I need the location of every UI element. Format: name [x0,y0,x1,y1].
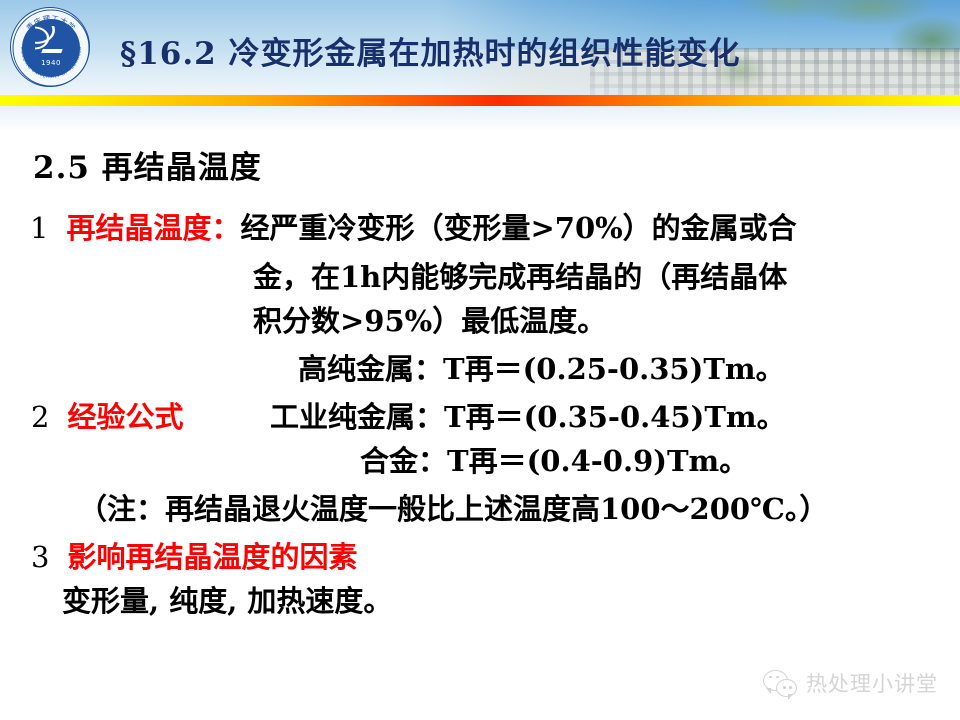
wechat-icon [763,670,797,697]
seal-inner-disc: 1940 [22,19,80,77]
item-1-body-line-3: 积分数>95%）最低温度。 [253,298,606,340]
item-2-term: 经验公式 [67,400,183,434]
header-accent-gradient-bar [0,95,960,106]
slide-header-banner: 重庆理工大学 CHONGQING UNIVERSITY OF TECHNOLOG… [0,0,960,95]
item-1-number: 1 [30,211,48,245]
list-item-2: 2经验公式 [31,394,183,436]
item-3-body-line-1: 变形量, 纯度, 加热速度。 [62,578,392,620]
slide-banner-title: §16.2 冷变形金属在加热时的组织性能变化 [120,28,741,73]
slide-content: 2.5 再结晶温度 1再结晶温度：经严重冷变形（变形量>70%）的金属或合 金，… [0,106,960,720]
formula-industrial-pure-metal: 工业纯金属：T再＝(0.35-0.45)Tm。 [270,394,786,436]
seal-swoosh-mark [35,26,67,62]
item-1-body-line-1: 经严重冷变形（变形量>70%）的金属或合 [240,211,796,245]
recrystallization-note: （注：再结晶退火温度一般比上述温度高100～200℃。） [78,486,828,528]
wechat-dot [769,676,772,679]
wechat-watermark: 热处理小讲堂 [763,668,938,698]
formula-alloy: 合金：T再＝(0.4-0.9)Tm。 [360,438,748,480]
seal-founding-year: 1940 [22,59,80,67]
wechat-dot [776,676,779,679]
list-item-1: 1再结晶温度：经严重冷变形（变形量>70%）的金属或合 [30,205,797,247]
watermark-label: 热处理小讲堂 [806,668,938,698]
wechat-dot [789,686,792,689]
item-1-term: 再结晶温度： [66,211,240,245]
item-3-term: 影响再结晶温度的因素 [67,540,357,574]
item-3-number: 3 [31,540,49,574]
seal-bar-mark [41,49,63,53]
section-heading: 2.5 再结晶温度 [33,142,262,187]
formula-high-purity-metal: 高纯金属：T再＝(0.25-0.35)Tm。 [298,346,785,388]
wechat-dot [783,686,786,689]
university-seal-logo: 重庆理工大学 CHONGQING UNIVERSITY OF TECHNOLOG… [10,7,90,87]
item-2-number: 2 [31,400,49,434]
wechat-bubble-small [776,679,797,697]
list-item-3: 3影响再结晶温度的因素 [31,534,357,576]
item-1-body-line-2: 金，在1h内能够完成再结晶的（再结晶体 [253,254,787,296]
